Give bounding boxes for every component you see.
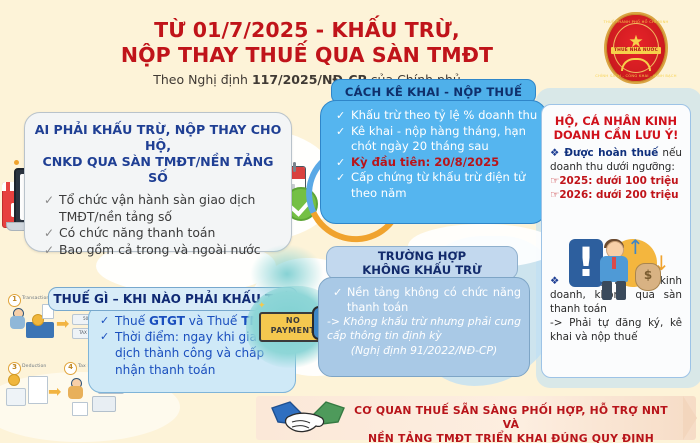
list-item-text: Tổ chức vận hành sàn giao dịch TMĐT/nền … xyxy=(59,192,255,224)
list-item-text: Cấp chứng từ khấu trừ điện tử theo năm xyxy=(351,170,525,200)
calendar-ring xyxy=(293,162,296,172)
emblem-plate-text: THUẾ NHÀ NƯỚC xyxy=(611,47,661,54)
list-item: ✓Kê khai - nộp hàng tháng, hạn chót ngày… xyxy=(351,124,538,155)
banner-arrow-shape xyxy=(683,396,697,440)
check-icon: ✓ xyxy=(100,329,109,345)
pointer-arrow-icon: ☞ xyxy=(550,189,559,201)
money-box xyxy=(6,388,26,406)
list-item-highlight: ✓Kỳ đầu tiên: 20/8/2025 xyxy=(351,155,538,171)
money-bag-icon xyxy=(635,263,661,291)
emblem-arc-top-text: THUẾ THÀNH PHỐ HỒ CHÍ MINH xyxy=(603,20,668,24)
box-c-heading-line-1: HỘ, CÁ NHÂN KINH xyxy=(548,114,684,128)
no-withholding-heading: TRƯỜNG HỢP KHÔNG KHẤU TRỪ xyxy=(326,246,518,280)
no-withholding-card: ✓Nền tảng không có chức năng thanh toán … xyxy=(318,277,530,377)
box-a-heading-line-1: AI PHẢI KHẤU TRỪ, NỘP THAY CHO HỘ, xyxy=(33,122,283,154)
tax-slip xyxy=(72,402,88,416)
who-must-withhold-card: AI PHẢI KHẤU TRỪ, NỘP THAY CHO HỘ, CNKD … xyxy=(24,112,292,252)
flow-step-label: Transaction xyxy=(22,296,49,301)
list-item-text: Khấu trừ theo tỷ lệ % doanh thu xyxy=(351,108,537,122)
box-a-heading: AI PHẢI KHẤU TRỪ, NỘP THAY CHO HỘ, CNKD … xyxy=(25,113,291,190)
list-item: ✓Khấu trừ theo tỷ lệ % doanh thu xyxy=(351,108,538,124)
businessman-figure xyxy=(597,241,631,301)
tax-type-gtgt: GTGT xyxy=(149,314,185,328)
list-item-text: Bao gồm cả trong và ngoài nước xyxy=(59,242,261,257)
check-icon: ✓ xyxy=(336,155,345,171)
list-item-text: Kê khai - nộp hàng tháng, hạn chót ngày … xyxy=(351,124,526,154)
box-b-list: ✓Khấu trừ theo tỷ lệ % doanh thu ✓Kê kha… xyxy=(321,101,546,202)
check-icon: ✓ xyxy=(44,225,54,242)
list-item: ✓Cấp chứng từ khấu trừ điện tử theo năm xyxy=(351,170,538,201)
page-title-line-2: NỘP THAY THUẾ QUA SÀN TMĐT xyxy=(22,43,592,68)
handshake-icon xyxy=(268,398,348,440)
refund-bold-text: Được hoàn thuế xyxy=(564,147,658,159)
threshold-2025-text: 2025: dưới 100 triệu xyxy=(559,175,678,187)
emblem-arc-bottom-text: CHÍNH SÁCH - CÔNG KHAI - MINH BẠCH xyxy=(595,74,676,78)
decor-dot xyxy=(14,160,19,165)
box-c-refund-paragraph: ❖ Được hoàn thuế nếu doanh thu dưới ngưỡ… xyxy=(542,146,690,174)
tax-document xyxy=(28,376,48,404)
self-business-warning-illustration: ↑ ↓ xyxy=(567,237,671,307)
banner-line-2: NỀN TẢNG TMĐT TRIỂN KHAI ĐÚNG QUY ĐỊNH xyxy=(344,432,678,443)
box-e-heading-wrap: TRƯỜNG HỢP KHÔNG KHẤU TRỪ xyxy=(362,249,481,277)
check-icon: ✓ xyxy=(100,313,109,329)
up-arrow-icon: ↑ xyxy=(627,237,644,257)
list-item-text: Nền tảng không có chức năng thanh toán xyxy=(347,286,521,314)
infographic-canvas: THUẾ THÀNH PHỐ HỒ CHÍ MINH ★ THUẾ NHÀ NƯ… xyxy=(0,0,700,443)
box-c-self-register-paragraph: -> Phải tự đăng ký, kê khai và nộp thuế xyxy=(542,316,690,344)
diamond-bullet-icon: ❖ xyxy=(550,147,560,159)
threshold-2026-text: 2026: dưới 200 triệu xyxy=(559,189,678,201)
no-payment-line-2: PAYMENT xyxy=(271,326,316,335)
check-icon: ✓ xyxy=(333,286,342,301)
box-e-heading-line-2: KHÔNG KHẤU TRỪ xyxy=(362,263,481,277)
flow-step-number: 1 xyxy=(8,294,21,307)
businessman-tie xyxy=(612,257,616,269)
flow-step-number: 4 xyxy=(64,362,77,375)
household-business-notice-card: HỘ, CÁ NHÂN KINH DOANH CẦN LƯU Ý! ❖ Được… xyxy=(541,104,691,378)
businessman-leg xyxy=(602,281,612,300)
list-item: ✓Nền tảng không có chức năng thanh toán xyxy=(347,286,521,315)
list-item-text: Có chức năng thanh toán xyxy=(59,225,215,240)
check-icon: ✓ xyxy=(336,108,345,124)
how-to-declare-card: ✓Khấu trừ theo tỷ lệ % doanh thu ✓Kê kha… xyxy=(320,100,547,224)
businessman-leg xyxy=(616,281,626,300)
no-payment-line-1: NO xyxy=(286,316,300,325)
page-title: TỪ 01/7/2025 - KHẤU TRỪ, NỘP THAY THUẾ Q… xyxy=(22,18,592,68)
flow-arrow-right-icon: ➡ xyxy=(48,384,61,400)
threshold-2026: ☞2026: dưới 200 triệu xyxy=(542,188,690,202)
check-icon: ✓ xyxy=(336,170,345,186)
list-item-text: Thời điểm: ngay khi giao dịch thành công… xyxy=(115,330,264,376)
sparkle-icon: ✦ xyxy=(258,300,266,313)
box-e-reference: (Nghị định 91/2022/NĐ-CP) xyxy=(319,344,529,358)
flow-arrow-right-icon: ➡ xyxy=(56,316,69,332)
box-e-heading-line-1: TRƯỜNG HỢP xyxy=(362,249,481,263)
page-title-line-1: TỪ 01/7/2025 - KHẤU TRỪ, xyxy=(22,18,592,43)
threshold-2025: ☞2025: dưới 100 triệu xyxy=(542,174,690,188)
subtitle-prefix: Theo Nghị định xyxy=(153,72,252,87)
check-icon: ✓ xyxy=(336,124,345,140)
box-e-note: -> Không khấu trừ nhưng phải cung cấp th… xyxy=(319,315,529,343)
box-a-heading-line-2: CNKD QUA SÀN TMĐT/NỀN TẢNG SỐ xyxy=(33,154,283,186)
box-a-list: ✓Tổ chức vận hành sàn giao dịch TMĐT/nền… xyxy=(25,190,291,258)
tax-types-pre: Thuế xyxy=(115,314,149,328)
person-body xyxy=(10,316,25,329)
list-item-text: Kỳ đầu tiên: 20/8/2025 xyxy=(351,155,499,169)
box-c-heading-line-2: DOANH CẦN LƯU Ý! xyxy=(548,128,684,142)
flow-step-label: Deduction xyxy=(22,364,46,369)
check-icon: ✓ xyxy=(44,242,54,259)
banner-line-1: CƠ QUAN THUẾ SẴN SÀNG PHỐI HỢP, HỖ TRỢ N… xyxy=(344,404,678,432)
coin-icon xyxy=(8,374,20,386)
pointer-arrow-icon: ☞ xyxy=(550,175,559,187)
tax-types-mid: và Thuế xyxy=(185,314,241,328)
printer-icon xyxy=(92,396,116,412)
check-icon: ✓ xyxy=(44,192,54,209)
person-body xyxy=(68,386,83,399)
box-c-heading: HỘ, CÁ NHÂN KINH DOANH CẦN LƯU Ý! xyxy=(542,105,690,146)
banner-text: CƠ QUAN THUẾ SẴN SÀNG PHỐI HỢP, HỖ TRỢ N… xyxy=(344,404,678,443)
diamond-bullet-icon: ❖ xyxy=(550,275,564,287)
list-item: ✓Tổ chức vận hành sàn giao dịch TMĐT/nền… xyxy=(59,192,283,225)
list-item: ✓Bao gồm cả trong và ngoài nước xyxy=(59,242,283,259)
list-item: ✓Có chức năng thanh toán xyxy=(59,225,283,242)
box-e-list: ✓Nền tảng không có chức năng thanh toán xyxy=(319,278,529,315)
tax-department-emblem-icon: THUẾ THÀNH PHỐ HỒ CHÍ MINH ★ THUẾ NHÀ NƯ… xyxy=(604,12,668,84)
